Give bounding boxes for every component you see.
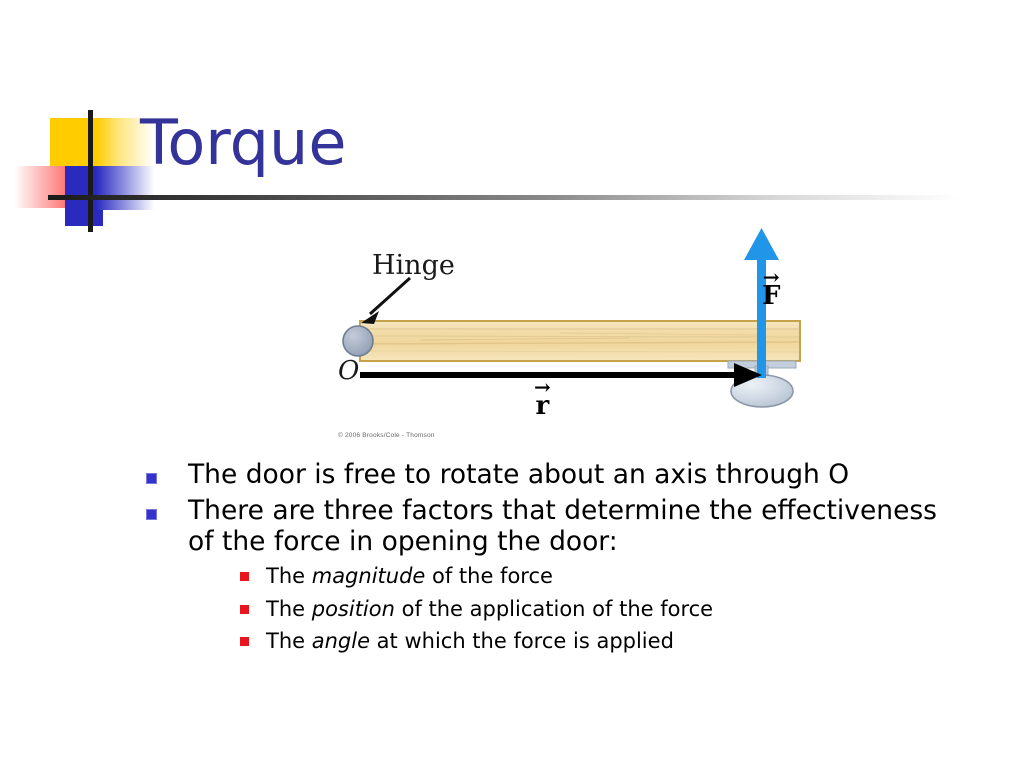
sub-bullet-text-pre: The [266,629,312,653]
slide-body: The door is free to rotate about an axis… [0,460,1024,660]
bullet-marker-blue-icon [146,509,157,520]
origin-label: O [338,356,359,386]
list-item: The angle at which the force is applied [234,628,948,654]
door-torque-diagram: Hinge O → F → r © 2006 Brooks/Cole - Tho… [330,228,820,453]
sub-bullet-text-post: at which the force is applied [370,629,674,653]
force-vector-symbol: F [762,281,780,311]
list-item: The door is free to rotate about an axis… [140,460,948,490]
sub-bullet-text-emphasis: magnitude [312,564,426,588]
bullet-marker-red-icon [240,572,249,581]
list-item: The position of the application of the f… [234,596,948,622]
force-vector-label: → F [762,270,780,306]
bullet-marker-blue-icon [146,473,157,484]
list-item: The magnitude of the force [234,563,948,589]
bullet-text: The door is free to rotate about an axis… [188,459,849,490]
bullet-list-level2: The magnitude of the force The position … [188,563,948,654]
sub-bullet-text-post: of the force [425,564,553,588]
bullet-text: There are three factors that determine t… [188,495,937,556]
position-vector-symbol: r [536,391,550,421]
sub-bullet-text-emphasis: position [312,597,395,621]
bullet-list-level1: The door is free to rotate about an axis… [0,460,1024,654]
sub-bullet-text-pre: The [266,564,312,588]
sub-bullet-text-post: of the application of the force [395,597,713,621]
bullet-marker-red-icon [240,637,249,646]
hinge-label: Hinge [372,250,455,281]
bullet-marker-red-icon [240,605,249,614]
list-item: There are three factors that determine t… [140,496,948,654]
decor-horizontal-rule [48,195,960,200]
door-plank [360,321,800,361]
slide-header: Torque [0,0,1024,240]
sub-bullet-text-pre: The [266,597,312,621]
figure-copyright-caption: © 2006 Brooks/Cole - Thomson [338,432,435,439]
hinge-pointer-arrow [361,278,410,324]
page-title: Torque [140,112,346,174]
position-vector-label: → r [534,380,551,416]
decor-vertical-rule [88,110,93,232]
sub-bullet-text-emphasis: angle [312,629,370,653]
position-vector-arrow [360,363,762,387]
hinge-pivot [343,326,373,356]
